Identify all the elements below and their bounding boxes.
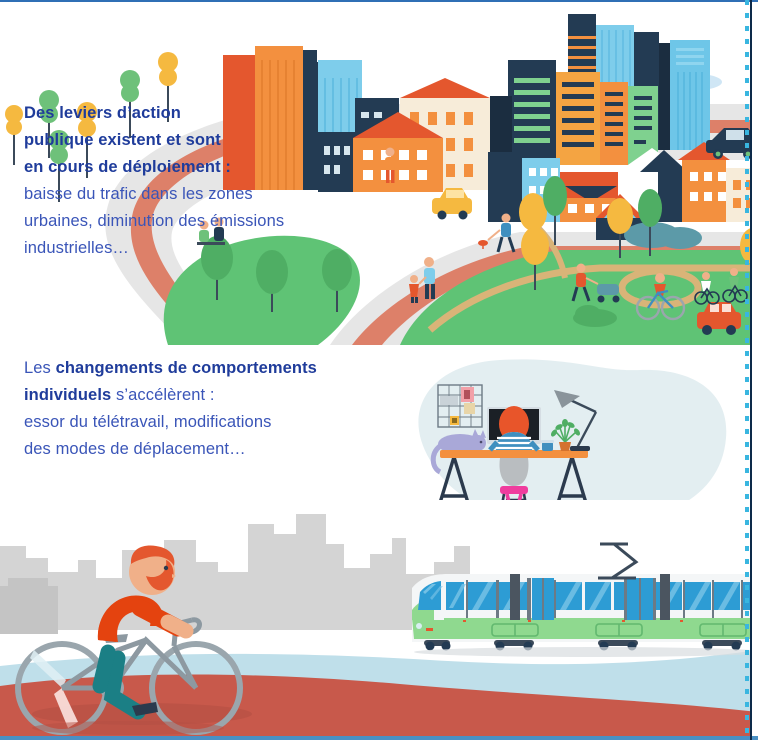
desk-top — [440, 450, 588, 458]
page-bottom-border — [0, 736, 758, 740]
body-line-3: industrielles… — [24, 235, 324, 262]
heading-line-1: Les changements de comportements — [24, 355, 424, 382]
page-right-border — [750, 0, 752, 740]
heading-line-1: Des leviers d’action — [24, 100, 324, 127]
body-line-1: baisse du trafic dans les zones — [24, 181, 324, 208]
body-line-1: essor du télétravail, modifications — [24, 409, 424, 436]
strong-text: changements de comportements — [56, 359, 317, 377]
body-line-2: des modes de déplacement… — [24, 436, 424, 463]
infographic-page: Des leviers d’action publique existent e… — [0, 0, 758, 740]
page-top-border — [0, 0, 758, 2]
heading-line-2: individuels s’accélèrent : — [24, 382, 424, 409]
heading-line-3: en cours de déploiement : — [24, 154, 324, 181]
suffix-text: s’accélèrent : — [111, 386, 214, 404]
coffee-cup — [541, 440, 554, 451]
heading-line-2: publique existent et sont — [24, 127, 324, 154]
bottom-mobility-illustration — [0, 500, 758, 740]
strong-text: individuels — [24, 386, 111, 404]
yellow-car-icon — [432, 188, 472, 220]
prefix-text: Les — [24, 359, 56, 377]
skyscraper-group — [490, 14, 710, 166]
text-block-public-levers: Des leviers d’action publique existent e… — [24, 100, 324, 262]
page-right-dotted-marks — [745, 0, 749, 740]
text-block-individual-behaviour: Les changements de comportements individ… — [24, 355, 424, 463]
body-line-2: urbaines, diminution des émissions — [24, 208, 324, 235]
